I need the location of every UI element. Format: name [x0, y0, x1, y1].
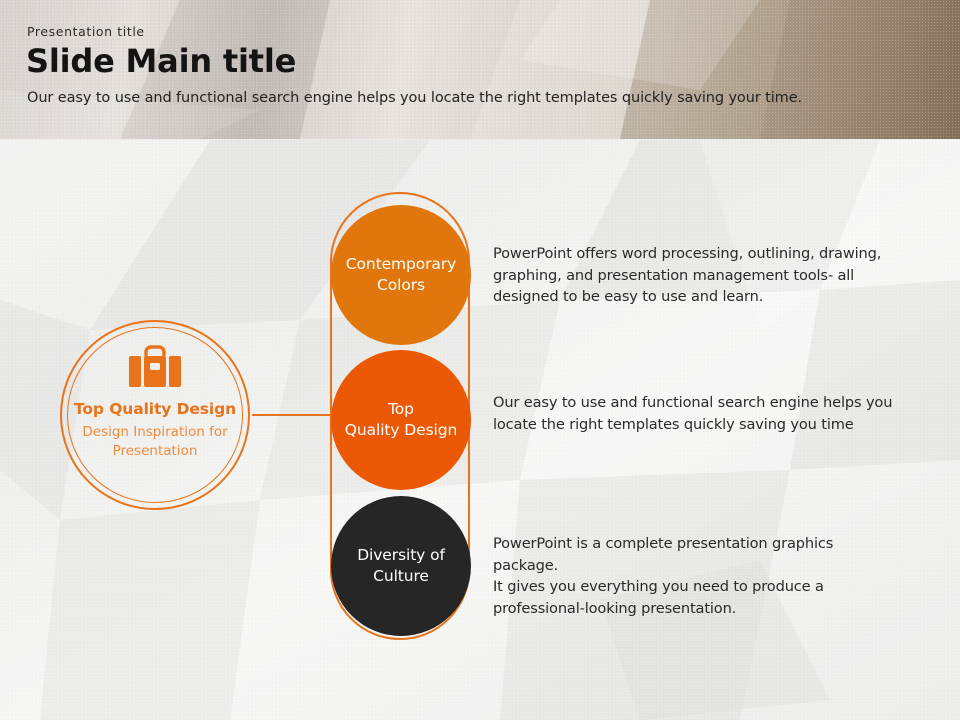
page-subtitle: Our easy to use and functional search en… [27, 90, 802, 106]
node-contemporary-colors[interactable]: Contemporary Colors [331, 205, 471, 345]
description-paragraph-1: PowerPoint offers word processing, outli… [493, 243, 913, 308]
node-top-quality-design[interactable]: Top Quality Design [331, 350, 471, 490]
slide-canvas: Presentation title Slide Main title Our … [0, 0, 960, 720]
badge-to-track-connector [252, 414, 332, 416]
page-title: Slide Main title [26, 42, 296, 80]
briefcase-icon [127, 344, 183, 390]
badge-title: Top Quality Design [60, 400, 250, 418]
badge-subtitle: Design Inspiration for Presentation [68, 423, 242, 461]
presentation-eyebrow: Presentation title [27, 24, 145, 39]
description-paragraph-3: PowerPoint is a complete presentation gr… [493, 533, 913, 619]
description-paragraph-2: Our easy to use and functional search en… [493, 392, 913, 435]
top-quality-design-badge[interactable]: Top Quality Design Design Inspiration fo… [60, 320, 250, 510]
node-diversity-of-culture[interactable]: Diversity of Culture [331, 496, 471, 636]
slide-header: Presentation title Slide Main title Our … [0, 0, 960, 139]
